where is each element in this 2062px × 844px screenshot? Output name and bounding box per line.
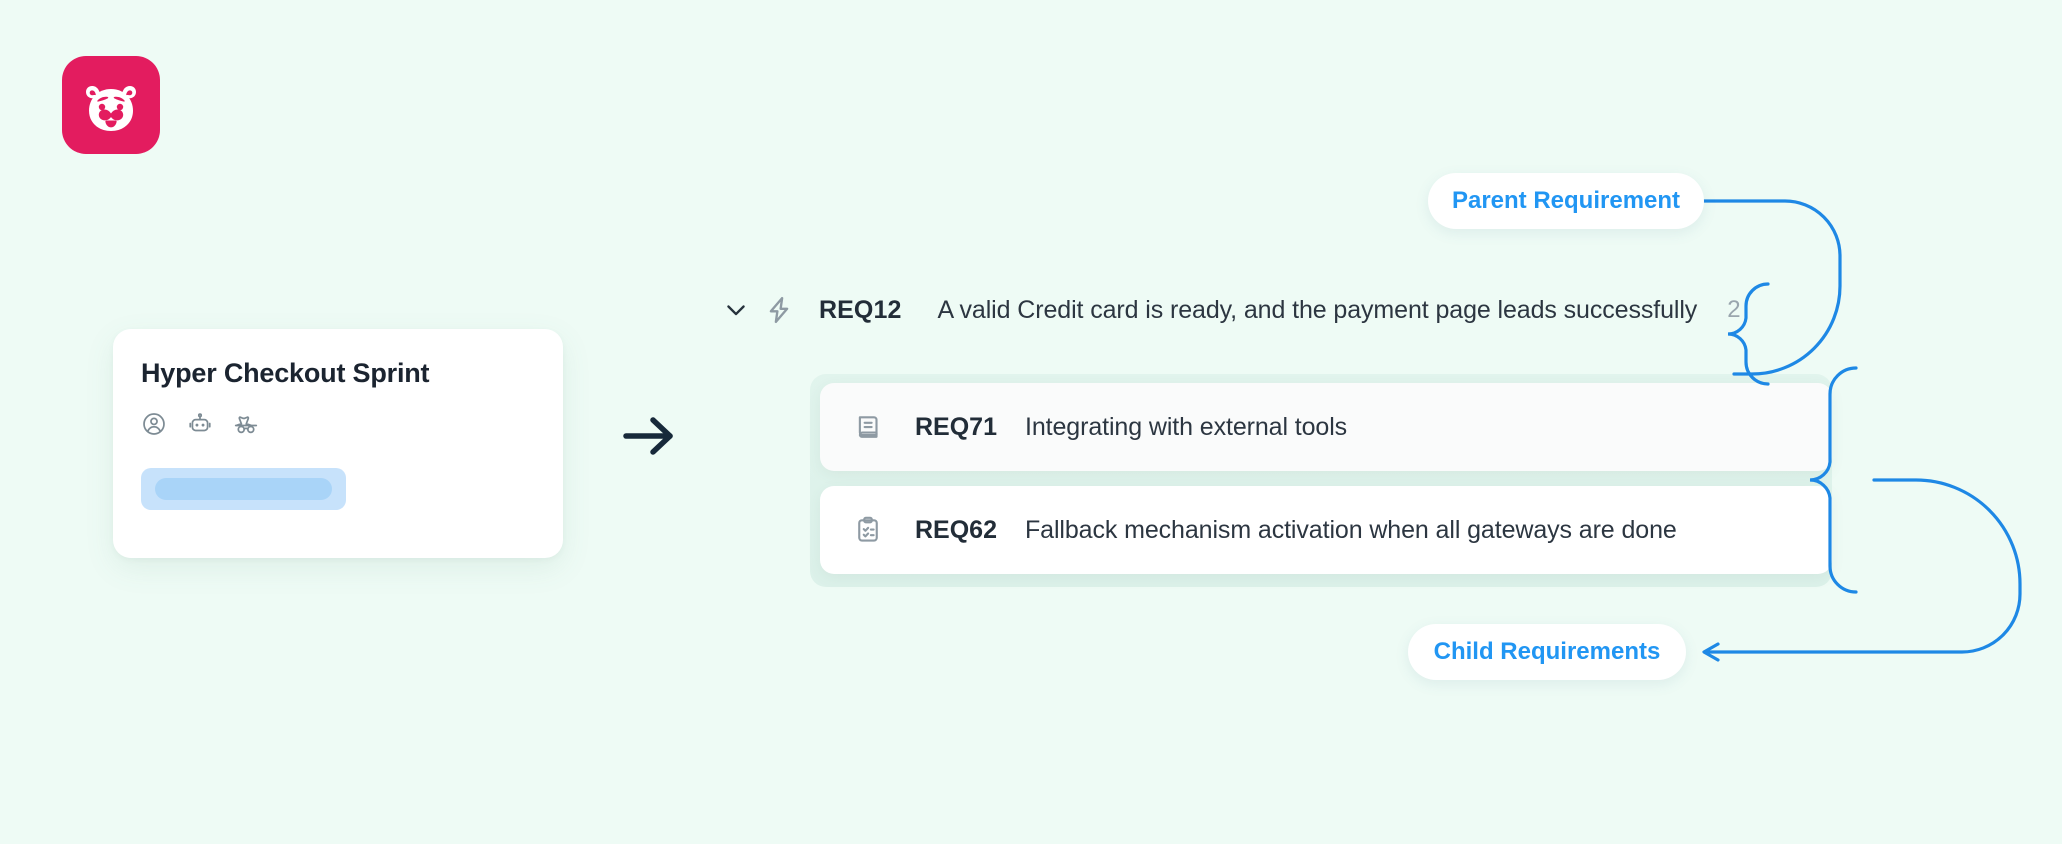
project-card[interactable]: Hyper Checkout Sprint xyxy=(113,329,563,558)
incognito-icon[interactable] xyxy=(233,411,259,437)
child-requirement-key[interactable]: REQ62 xyxy=(915,516,997,545)
project-title: Hyper Checkout Sprint xyxy=(141,359,535,389)
project-progress-placeholder xyxy=(141,468,346,510)
app-logo xyxy=(62,56,160,154)
panda-face-logo-icon xyxy=(75,69,147,141)
annotation-badge-parent: Parent Requirement xyxy=(1428,173,1704,229)
project-progress-fill xyxy=(155,478,332,500)
robot-icon[interactable] xyxy=(187,411,213,437)
parent-requirement-key[interactable]: REQ12 xyxy=(819,296,901,325)
child-requirement-card[interactable]: REQ62 Fallback mechanism activation when… xyxy=(820,486,1832,574)
child-requirement-key[interactable]: REQ71 xyxy=(915,413,997,442)
child-requirement-card[interactable]: REQ71 Integrating with external tools xyxy=(820,383,1832,471)
arrow-right-icon xyxy=(618,410,680,462)
child-requirement-summary[interactable]: Fallback mechanism activation when all g… xyxy=(1025,516,1677,545)
parent-requirement-row[interactable]: REQ12 A valid Credit card is ready, and … xyxy=(722,284,1741,336)
lightning-bolt-icon xyxy=(764,295,794,325)
clipboard-check-icon xyxy=(853,515,883,545)
book-icon xyxy=(853,412,883,442)
child-connector-arrowhead xyxy=(1704,644,1718,660)
canvas: Hyper Checkout Sprint xyxy=(0,0,2062,844)
parent-requirement-child-count: 2 xyxy=(1727,296,1740,324)
parent-requirement-summary[interactable]: A valid Credit card is ready, and the pa… xyxy=(937,296,1697,325)
child-requirement-summary[interactable]: Integrating with external tools xyxy=(1025,413,1347,442)
user-circle-icon[interactable] xyxy=(141,411,167,437)
chevron-down-icon[interactable] xyxy=(722,296,750,324)
project-meta-icons xyxy=(141,411,535,437)
annotation-badge-child: Child Requirements xyxy=(1408,624,1686,680)
